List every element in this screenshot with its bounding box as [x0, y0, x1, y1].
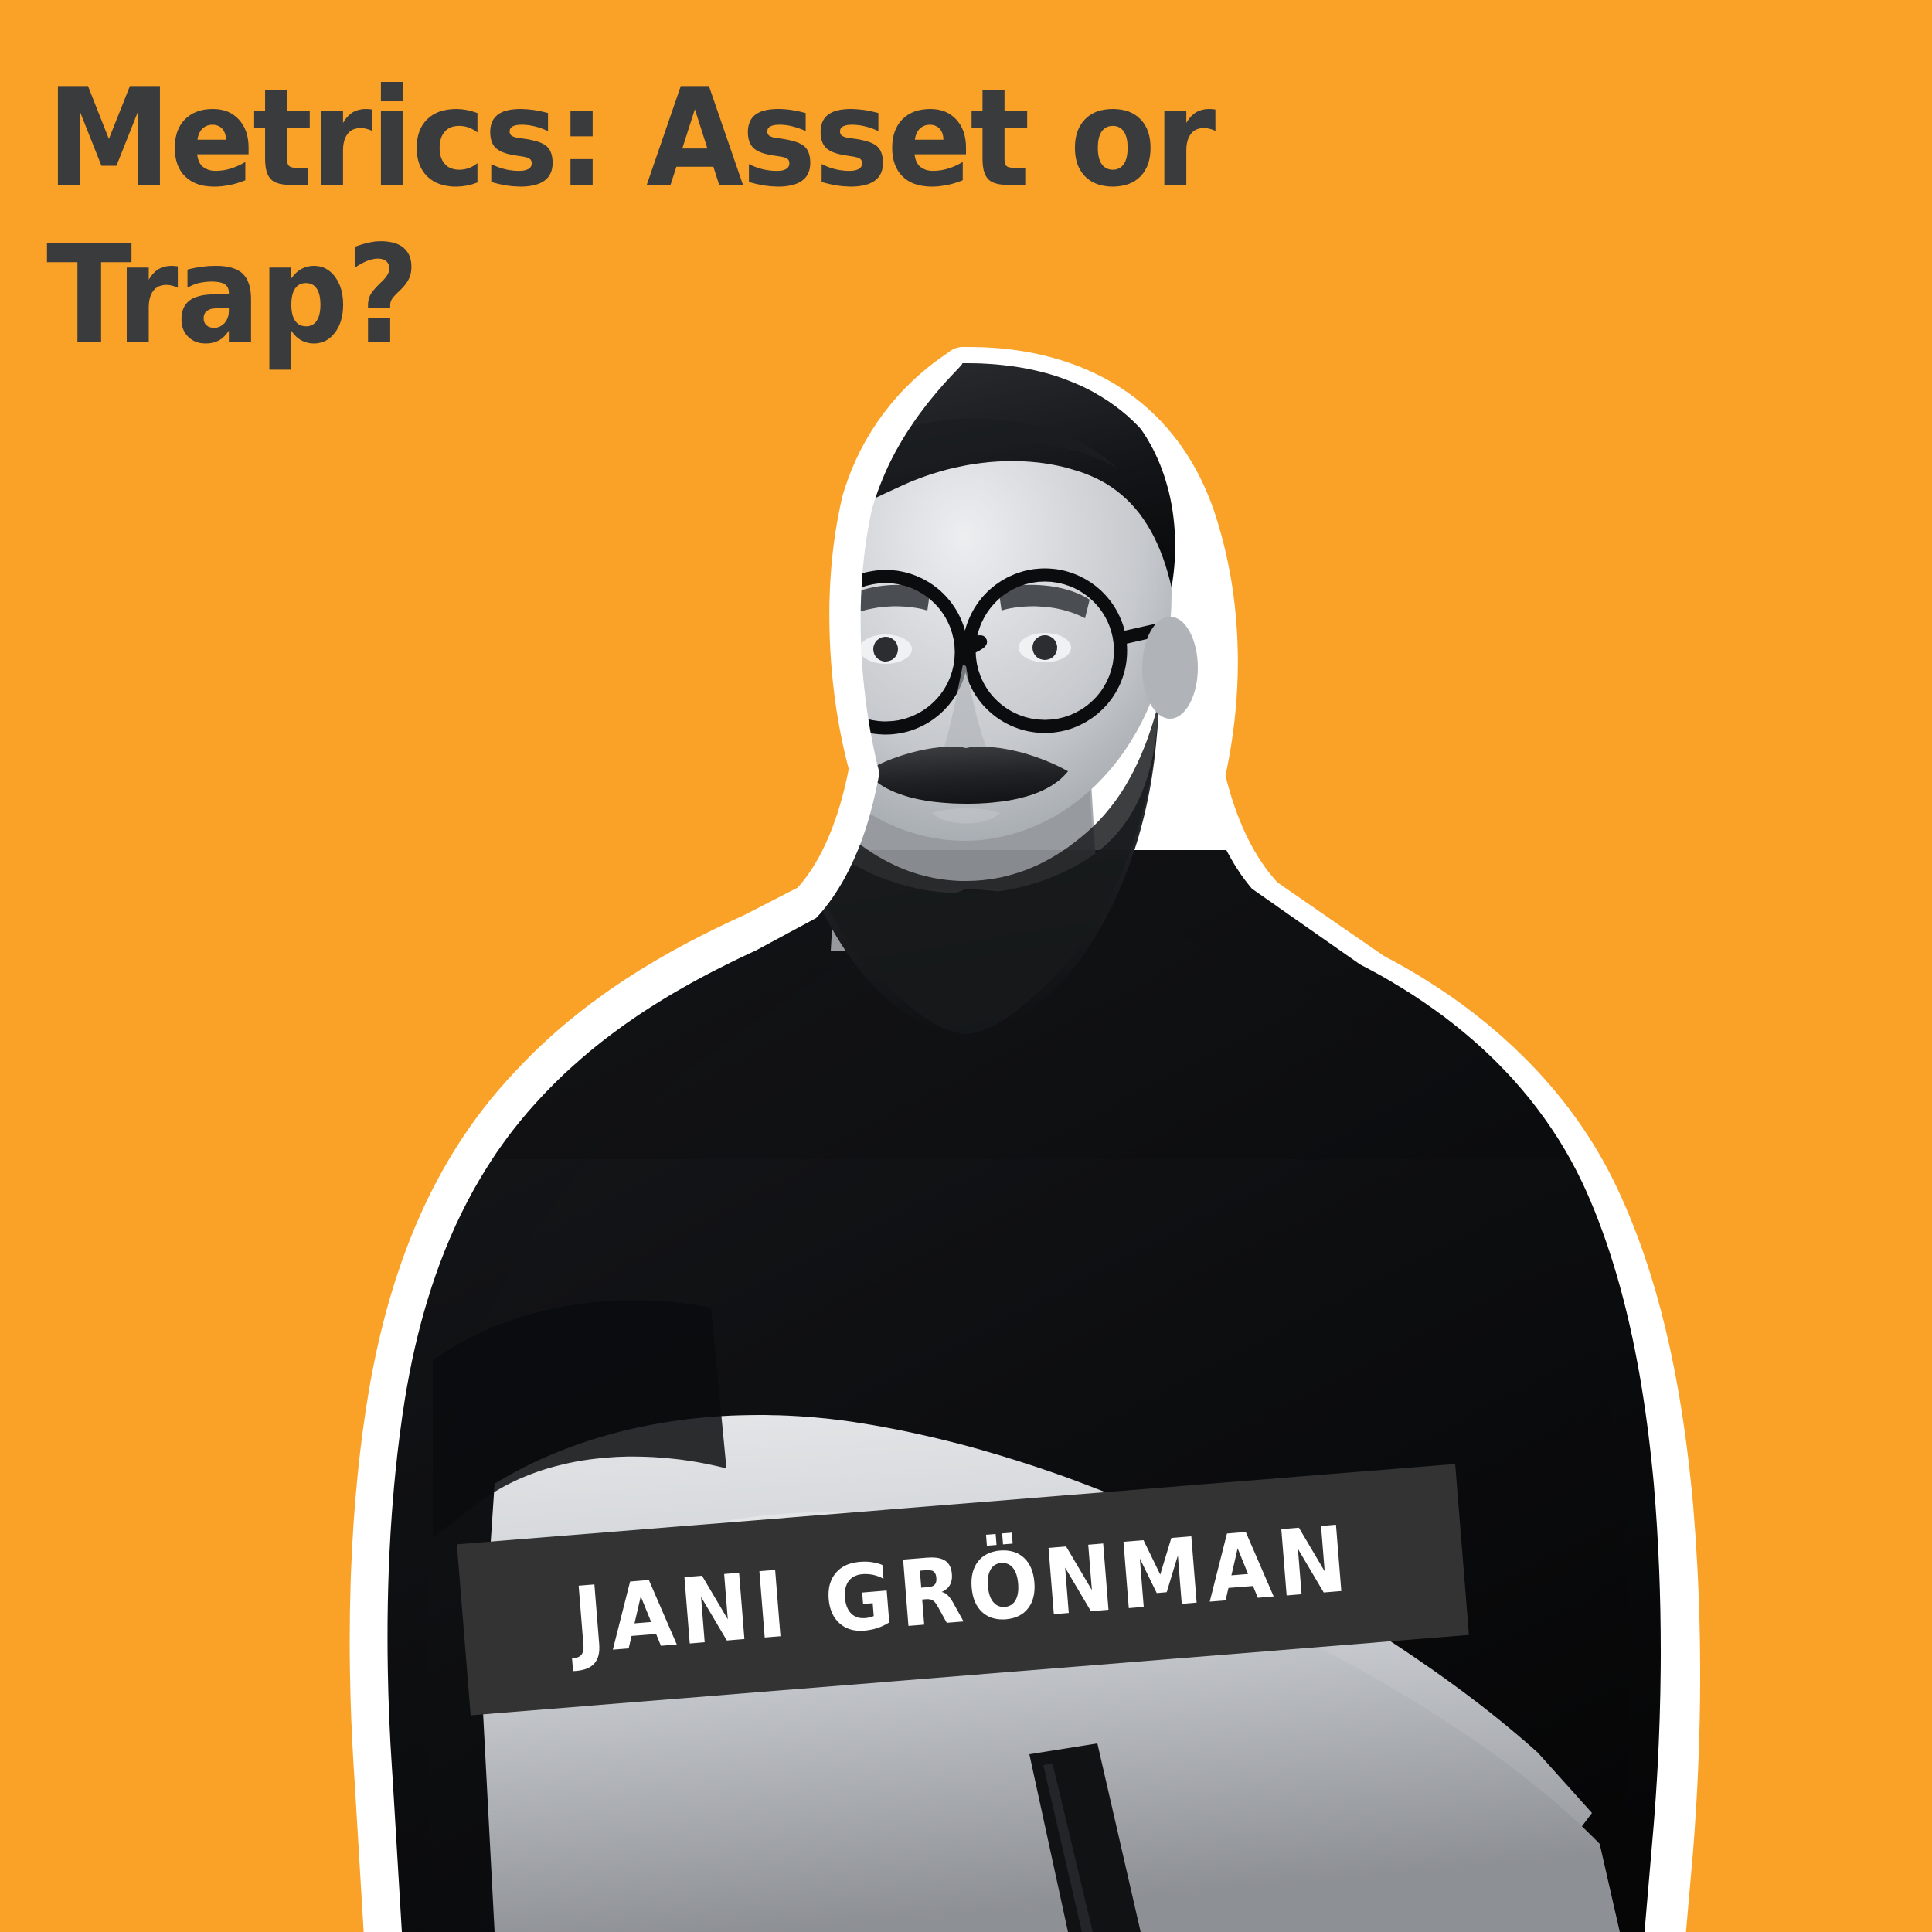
podcast-cover-art: Metrics: Asset or Trap? JANI GRÖNMAN	[0, 0, 1932, 1932]
guest-name-label: JANI GRÖNMAN	[570, 1513, 1355, 1667]
